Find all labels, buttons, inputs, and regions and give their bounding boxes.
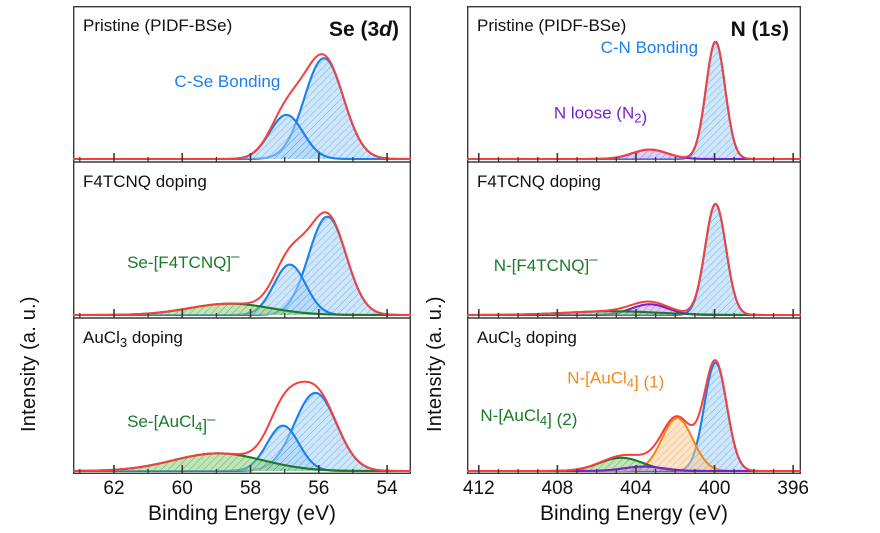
se-spectra-svg: Pristine (PIDF-BSe)C-Se BondingF4TCNQ do… xyxy=(73,6,411,474)
x-tick-label: 408 xyxy=(542,478,574,500)
peak-annotation: Se-[AuCl4]– xyxy=(127,411,216,435)
x-tick-label: 60 xyxy=(172,478,193,500)
peak-annotation: C-N Bonding xyxy=(601,38,698,57)
row-title: F4TCNQ doping xyxy=(83,172,207,191)
x-tick-label: 404 xyxy=(620,478,652,500)
y-axis-label-n: Intensity (a. u.) xyxy=(424,132,447,432)
row-title: Pristine (PIDF-BSe) xyxy=(83,16,232,35)
y-axis-label-se: Intensity (a. u.) xyxy=(18,132,41,432)
x-tick-label: 400 xyxy=(699,478,731,500)
peak-annotation: N-[F4TCNQ]– xyxy=(494,251,598,275)
x-tick-label: 54 xyxy=(377,478,398,500)
peak-annotation: N loose (N2) xyxy=(554,103,647,126)
peak-annotation: N-[AuCl4] (1) xyxy=(567,369,664,392)
n-x-tick-labels: 412408404400396 xyxy=(467,478,801,502)
peak-annotation: N-[AuCl4] (2) xyxy=(480,406,577,429)
row-title: F4TCNQ doping xyxy=(477,172,601,191)
x-tick-label: 396 xyxy=(777,478,809,500)
core-level-label: Se (3d) xyxy=(329,18,399,41)
row-title: AuCl3 doping xyxy=(83,328,183,350)
core-level-label: N (1s) xyxy=(731,18,789,41)
row-title: Pristine (PIDF-BSe) xyxy=(477,16,626,35)
peak-annotation: C-Se Bonding xyxy=(174,72,280,91)
x-tick-label: 62 xyxy=(103,478,124,500)
n-x-axis-title: Binding Energy (eV) xyxy=(467,502,801,526)
se-x-axis-title: Binding Energy (eV) xyxy=(73,502,411,526)
peak-annotation: Se-[F4TCNQ]– xyxy=(127,248,240,272)
xps-figure: Intensity (a. u.) Intensity (a. u.) Pris… xyxy=(0,0,880,533)
row-title: AuCl3 doping xyxy=(477,328,577,350)
n-spectra-svg: Pristine (PIDF-BSe)C-N BondingN loose (N… xyxy=(467,6,801,474)
panel-group-n: Pristine (PIDF-BSe)C-N BondingN loose (N… xyxy=(467,6,801,474)
x-tick-label: 58 xyxy=(240,478,261,500)
se-x-tick-labels: 6260585654 xyxy=(73,478,411,502)
panel-group-se: Pristine (PIDF-BSe)C-Se BondingF4TCNQ do… xyxy=(73,6,411,474)
x-tick-label: 56 xyxy=(308,478,329,500)
x-tick-label: 412 xyxy=(463,478,495,500)
